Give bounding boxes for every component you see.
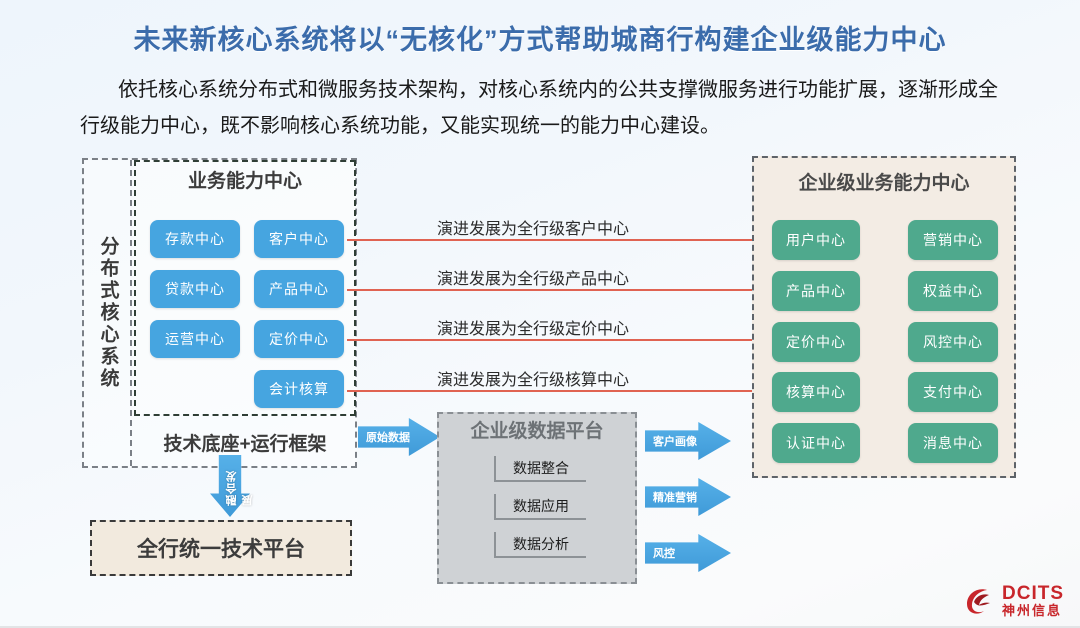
data-platform-item-application[interactable]: 数据应用 — [494, 494, 586, 520]
connector-label-pricing: 演进发展为全行级定价中心 — [437, 315, 629, 339]
ent-pill-message[interactable]: 消息中心 — [908, 423, 998, 463]
data-platform-title: 企业级数据平台 — [437, 416, 637, 443]
connector-label-customer: 演进发展为全行级客户中心 — [437, 215, 629, 239]
business-capability-center-title: 业务能力中心 — [134, 166, 356, 193]
data-platform-item-integration[interactable]: 数据整合 — [494, 456, 586, 482]
core-pill-operation[interactable]: 运营中心 — [150, 320, 240, 358]
vertical-label-text: 分布式核心系统 — [95, 236, 122, 390]
ent-pill-product[interactable]: 产品中心 — [772, 271, 860, 311]
output-arrow-customer-profile: 客户画像 — [645, 422, 731, 460]
unified-platform-label: 全行统一技术平台 — [137, 533, 305, 563]
core-pill-deposit[interactable]: 存款中心 — [150, 220, 240, 258]
ent-pill-payment[interactable]: 支付中心 — [908, 372, 998, 412]
output-arrow-label-customer-profile: 客户画像 — [653, 433, 697, 449]
distributed-core-system-label: 分布式核心系统 — [86, 160, 132, 466]
raw-data-arrow: 原始数据 — [358, 418, 440, 456]
connector-customer — [347, 239, 767, 241]
ent-pill-user[interactable]: 用户中心 — [772, 220, 860, 260]
output-arrow-precision-marketing: 精准营销 — [645, 478, 731, 516]
connector-label-accounting: 演进发展为全行级核算中心 — [437, 366, 629, 390]
connector-label-product: 演进发展为全行级产品中心 — [437, 265, 629, 289]
ent-pill-riskcontrol[interactable]: 风控中心 — [908, 322, 998, 362]
ent-pill-pricing[interactable]: 定价中心 — [772, 322, 860, 362]
dcits-logo: DCITS 神州信息 — [962, 584, 1064, 618]
output-arrow-label-precision-marketing: 精准营销 — [653, 489, 697, 505]
slide-canvas: 未来新核心系统将以“无核化”方式帮助城商行构建企业级能力中心 依托核心系统分布式… — [0, 0, 1080, 628]
connector-pricing — [347, 339, 767, 341]
data-platform-item-analysis[interactable]: 数据分析 — [494, 532, 586, 558]
core-pill-customer[interactable]: 客户中心 — [254, 220, 344, 258]
page-title: 未来新核心系统将以“无核化”方式帮助城商行构建企业级能力中心 — [0, 18, 1080, 57]
logo-text-en: DCITS — [1002, 584, 1064, 604]
connector-product — [347, 289, 767, 291]
dcits-logo-mark-icon — [962, 584, 996, 618]
ent-pill-authentication[interactable]: 认证中心 — [772, 423, 860, 463]
core-pill-pricing[interactable]: 定价中心 — [254, 320, 344, 358]
output-arrow-label-risk-control: 风控 — [653, 545, 675, 561]
ent-pill-marketing[interactable]: 营销中心 — [908, 220, 998, 260]
enterprise-capability-center-title: 企业级业务能力中心 — [752, 168, 1016, 195]
page-subtitle: 依托核心系统分布式和微服务技术架构，对核心系统内的公共支撑微服务进行功能扩展，逐… — [80, 72, 1010, 144]
ent-pill-accounting[interactable]: 核算中心 — [772, 372, 860, 412]
core-pill-product[interactable]: 产品中心 — [254, 270, 344, 308]
logo-text-cn: 神州信息 — [1002, 604, 1064, 618]
core-pill-accounting[interactable]: 会计核算 — [254, 370, 344, 408]
ent-pill-rights[interactable]: 权益中心 — [908, 271, 998, 311]
tech-base-label: 技术底座+运行框架 — [134, 418, 356, 466]
raw-data-arrow-label: 原始数据 — [366, 429, 410, 445]
unified-platform-box: 全行统一技术平台 — [90, 520, 352, 576]
integration-development-arrow-label: 融合发展 — [224, 462, 256, 506]
core-pill-loan[interactable]: 贷款中心 — [150, 270, 240, 308]
connector-accounting — [347, 390, 767, 392]
output-arrow-risk-control: 风控 — [645, 534, 731, 572]
